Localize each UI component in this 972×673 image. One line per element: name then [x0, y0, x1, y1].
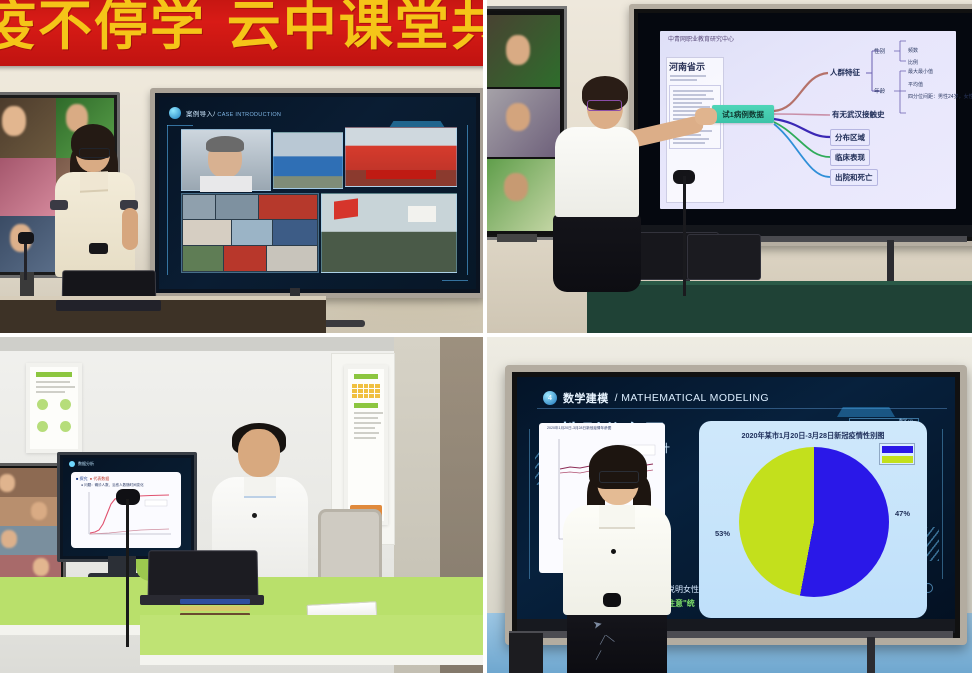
student-face-2 — [506, 103, 530, 131]
board-stand-right — [867, 637, 875, 673]
slide-bullet-row-2: ● 问题：确诊人数、治愈人数随时间变化 — [81, 483, 144, 488]
section-title-en: / MATHEMATICAL MODELING — [615, 392, 769, 404]
caption-fragment-2: 注意"统 — [667, 598, 695, 609]
student-face-1 — [506, 35, 530, 65]
laptop-2 — [687, 234, 761, 280]
table-cell — [358, 384, 363, 388]
table-cell — [352, 394, 357, 398]
presenter-clicker — [603, 593, 621, 607]
section-title-en-label: MATHEMATICAL MODELING — [621, 392, 769, 404]
poster-line — [36, 386, 75, 388]
line-chart-title: 2020年1月20日-3月28日新冠疫情年龄图 — [547, 426, 611, 431]
panel-bottom-right: 4 数学建模 / MATHEMATICAL MODELING 性别分布图 数据的… — [487, 337, 972, 673]
monitor-slide-header-label: 数据分析 — [78, 461, 94, 467]
presenter-glasses — [79, 148, 110, 158]
bullet-dot-icon — [69, 461, 75, 467]
photo-expert-portrait — [181, 129, 271, 191]
mindmap-branch-wuhan: 有无武汉接触史 — [832, 109, 885, 120]
slide-section-header: 4 数学建模 / MATHEMATICAL MODELING — [543, 390, 769, 406]
presenter-hand — [695, 108, 717, 125]
photo-medical-team-line — [273, 132, 343, 189]
poster-node-icon — [37, 399, 48, 410]
presenter-collar — [599, 505, 635, 529]
hud-line-right — [467, 125, 468, 275]
hud-notch-top — [837, 407, 895, 417]
speaker — [509, 633, 543, 673]
student-face — [1, 530, 17, 548]
presenter-glasses — [587, 100, 622, 111]
student-face-1 — [2, 106, 26, 136]
mindmap-branch-linchuang: 临床表现 — [830, 149, 870, 166]
poster-line — [354, 422, 381, 424]
desk — [0, 300, 326, 333]
pie-label-female: 47% — [895, 509, 910, 518]
presenter-sleeve-left — [50, 200, 68, 210]
laptop-base — [56, 300, 161, 311]
legend-swatch-female — [882, 456, 913, 463]
teacher-collar — [244, 477, 276, 498]
table-cell — [369, 389, 374, 393]
slide-header: 数据分析 — [69, 461, 94, 467]
red-banner: 疫不停学 云中课堂共成长 — [0, 0, 483, 66]
table-cell — [364, 389, 369, 393]
table-cell — [375, 384, 380, 388]
green-desk-front — [140, 615, 483, 659]
table-cell — [369, 394, 374, 398]
slide-header-cn: 案例导入/ — [186, 111, 215, 118]
video-tile-student-3 — [0, 158, 56, 216]
table-cell — [352, 384, 357, 388]
student-face — [31, 502, 47, 520]
bullet-dot-icon — [169, 107, 181, 119]
slide-header: 案例导入/ CASE INTRODUCTION — [169, 106, 281, 120]
hud-line-right — [942, 429, 943, 579]
hud-corner-tl — [167, 125, 193, 126]
skirt-pattern: ⟋⟍ — [598, 633, 616, 649]
pie-chart-panel: 2020年某市1月20日-3月28日新冠疫情性别图 53% 47% — [699, 421, 927, 618]
poster-line — [36, 381, 70, 383]
poster-table — [352, 384, 380, 398]
skirt-pattern: ⟋ — [594, 649, 604, 663]
slide-header-label: 案例导入/ CASE INTRODUCTION — [186, 108, 281, 118]
desk-front-edge — [140, 655, 483, 665]
slide-header-en: CASE INTRODUCTION — [217, 112, 281, 118]
poster-orange-table — [344, 365, 388, 525]
table-cell — [364, 394, 369, 398]
mindmap-leaf-pinshu: 频数 — [908, 47, 918, 54]
presenter-skirt: ➤ ⟋⟍ ⟋ — [567, 612, 667, 673]
presenter-body — [555, 127, 639, 217]
panel-top-right: 中青网职业教育研究中心 河南省示 — [487, 0, 972, 333]
table-cell — [369, 384, 374, 388]
presenter-clicker — [89, 243, 108, 254]
photo-collage: 疫不停学 云中课堂共成长 案例导入/ — [0, 0, 972, 673]
poster-line — [354, 432, 379, 434]
poster-line — [354, 437, 376, 439]
poster-green-flowchart — [26, 363, 82, 453]
webcam-icon — [18, 232, 34, 244]
table-cell — [358, 389, 363, 393]
photo-send-off-ceremony — [345, 127, 457, 187]
stage-platform — [587, 285, 972, 333]
mindmap-leaf-mean: 平均值 — [908, 81, 923, 88]
lapel-mic-icon — [252, 513, 257, 518]
book — [180, 599, 250, 604]
pie-chart-title: 2020年某市1月20日-3月28日新冠疫情性别图 — [699, 431, 927, 441]
student-face-3 — [504, 173, 528, 201]
poster-header-bar — [36, 372, 72, 377]
caption-fragment-1: 说明女性 — [667, 584, 699, 595]
panel-bottom-left: 数据分析 ■ 探究 ● 代表数据 ● 问题：确诊人数、治愈人数随时间变化 — [0, 337, 483, 673]
banner-text: 疫不停学 云中课堂共成长 — [0, 0, 482, 58]
tripod-stand — [126, 499, 129, 647]
presenter-glasses — [599, 471, 639, 483]
mindmap-leaf-bili: 比例 — [908, 59, 918, 66]
lapel-mic-icon — [611, 549, 616, 554]
monitor-foot — [497, 234, 537, 242]
hud-line-left — [529, 429, 530, 579]
poster-line — [354, 427, 375, 429]
mindmap-branch-fenbu: 分布区域 — [830, 129, 870, 146]
slide-bullet-row: ■ 探究 ● 代表数据 — [76, 476, 109, 482]
poster-node-icon — [60, 399, 71, 410]
poster-node-icon — [37, 421, 48, 432]
teacher-head — [238, 429, 280, 477]
student-face — [0, 474, 15, 492]
pie-chart-legend — [879, 443, 915, 465]
mindmap-leaf-maxmin: 最大最小值 — [908, 68, 933, 75]
mindmap-sub-nianling: 年龄 — [874, 87, 885, 95]
photo-hospital-collage — [181, 193, 319, 273]
mindmap-branch-renqun: 人群特征 — [830, 67, 860, 78]
book — [180, 606, 250, 611]
poster-subheader-bar — [354, 403, 378, 408]
board-screen: 案例导入/ CASE INTRODUCTION — [159, 97, 476, 289]
presenter-collar — [80, 171, 108, 192]
photo-group-flag — [321, 193, 457, 273]
mindmap-leaf-iqr: 四分位间距：男性24岁，女性22岁 — [908, 93, 972, 100]
legend-swatch-male — [882, 446, 913, 453]
presenter-skirt — [553, 214, 641, 292]
hud-line-left — [167, 125, 168, 275]
poster-line — [36, 391, 65, 393]
section-title-cn: 数学建模 — [563, 390, 609, 406]
poster-line — [354, 417, 378, 419]
table-cell — [364, 384, 369, 388]
mindmap-sub-xingbie: 性别 — [874, 47, 885, 55]
section-number-badge: 4 — [543, 391, 557, 405]
smart-board-case-intro: 案例导入/ CASE INTRODUCTION — [150, 88, 483, 298]
hud-corner-br — [442, 280, 468, 281]
student-face — [33, 558, 49, 576]
poster-line — [354, 412, 383, 414]
mindmap-center-node: 试1病例数据 — [712, 105, 774, 123]
presenter-arm — [122, 208, 138, 250]
table-cell — [358, 394, 363, 398]
mindmap-branch-chuyuan: 出院和死亡 — [830, 169, 878, 186]
table-cell — [352, 389, 357, 393]
table-cell — [375, 394, 380, 398]
laptop-screen — [148, 550, 259, 600]
monitor-screen — [0, 468, 61, 584]
monitor-screen — [487, 11, 562, 235]
webcam-stand — [24, 244, 27, 280]
skirt-pattern: ➤ — [592, 617, 604, 632]
pie-label-male: 53% — [715, 529, 730, 538]
pie-chart — [739, 447, 889, 597]
poster-header-bar — [354, 374, 378, 379]
panel-top-left: 疫不停学 云中课堂共成长 案例导入/ — [0, 0, 483, 333]
table-cell — [375, 389, 380, 393]
tripod-stand — [683, 176, 686, 296]
poster-node-icon — [60, 421, 71, 432]
